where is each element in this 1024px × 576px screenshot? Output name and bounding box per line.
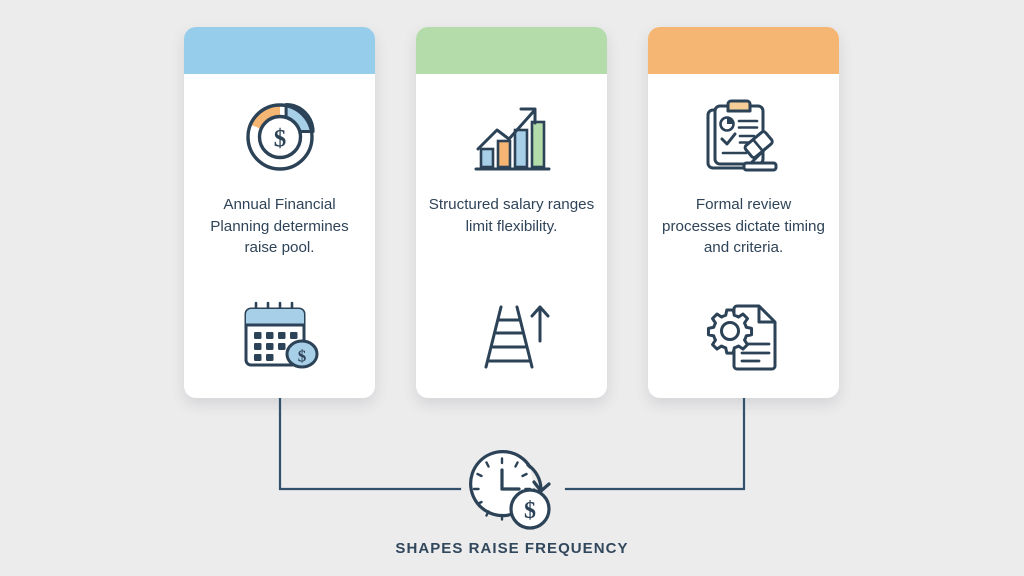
svg-text:$: $ bbox=[273, 126, 286, 153]
ladder-arrow-up-icon bbox=[474, 298, 550, 376]
svg-text:$: $ bbox=[297, 347, 306, 366]
svg-text:$: $ bbox=[524, 498, 536, 524]
infographic-canvas: $ Annual Financial Planning determines r… bbox=[0, 0, 1024, 576]
gear-document-icon bbox=[703, 298, 785, 376]
connector-left-path bbox=[280, 398, 460, 489]
card-description: Structured salary ranges limit flexibili… bbox=[428, 194, 596, 237]
hub-caption: SHAPES RAISE FREQUENCY bbox=[0, 540, 1024, 557]
card-header-band-orange bbox=[648, 27, 839, 74]
card-annual-financial-planning[interactable]: $ Annual Financial Planning determines r… bbox=[184, 27, 375, 398]
clipboard-gavel-icon bbox=[702, 98, 786, 176]
card-description: Formal review processes dictate timing a… bbox=[660, 194, 828, 259]
calendar-dollar-icon: $ bbox=[238, 298, 322, 376]
card-formal-review-processes[interactable]: Formal review processes dictate timing a… bbox=[648, 27, 839, 398]
bar-chart-growth-icon bbox=[471, 98, 553, 176]
connector-right-path bbox=[566, 398, 744, 489]
card-description: Annual Financial Planning determines rai… bbox=[196, 194, 364, 259]
donut-chart-dollar-icon: $ bbox=[241, 98, 319, 176]
card-header-band-blue bbox=[184, 27, 375, 74]
card-header-band-green bbox=[416, 27, 607, 74]
card-structured-salary-ranges[interactable]: Structured salary ranges limit flexibili… bbox=[416, 27, 607, 398]
clock-dollar-arrow-icon: $ bbox=[462, 447, 562, 533]
